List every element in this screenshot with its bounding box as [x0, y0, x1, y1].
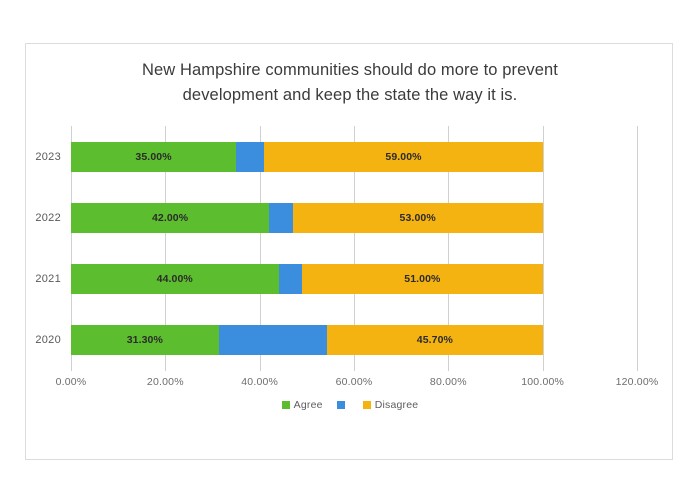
- chart-title: New Hampshire communities should do more…: [26, 58, 674, 108]
- chart-card: New Hampshire communities should do more…: [25, 43, 673, 460]
- y-axis-label-2022: 2022: [13, 203, 61, 233]
- y-axis-label-2020: 2020: [13, 325, 61, 355]
- data-label-2023-agree: 35.00%: [135, 151, 171, 163]
- chart-legend: AgreeDisagree: [26, 399, 674, 411]
- plot-area: 202335.00%59.00%202242.00%53.00%202144.0…: [71, 126, 637, 371]
- bar-segment-2023-disagree[interactable]: 59.00%: [264, 142, 542, 172]
- bar-segment-2022-agree[interactable]: 42.00%: [71, 203, 269, 233]
- chart-title-line-2: development and keep the state the way i…: [26, 83, 674, 108]
- stacked-bar-2021: 44.00%51.00%: [71, 264, 543, 294]
- x-axis-tick-60.00%: 60.00%: [336, 376, 373, 388]
- data-label-2021-agree: 44.00%: [157, 273, 193, 285]
- y-axis-label-2021: 2021: [13, 264, 61, 294]
- x-axis-tick-20.00%: 20.00%: [147, 376, 184, 388]
- x-axis-tick-100.00%: 100.00%: [521, 376, 564, 388]
- legend-swatch-agree: [282, 401, 290, 409]
- x-axis-tick-120.00%: 120.00%: [616, 376, 659, 388]
- x-axis-tick-80.00%: 80.00%: [430, 376, 467, 388]
- legend-label-disagree: Disagree: [375, 399, 419, 411]
- data-label-2020-agree: 31.30%: [127, 334, 163, 346]
- stacked-bar-2020: 31.30%45.70%: [71, 325, 543, 355]
- legend-item-agree[interactable]: Agree: [282, 399, 323, 411]
- x-axis-tick-labels: 0.00%20.00%40.00%60.00%80.00%100.00%120.…: [71, 376, 637, 394]
- data-label-2020-disagree: 45.70%: [417, 334, 453, 346]
- stacked-bar-2023: 35.00%59.00%: [71, 142, 543, 172]
- legend-label-agree: Agree: [294, 399, 323, 411]
- data-label-2022-disagree: 53.00%: [400, 212, 436, 224]
- bar-segment-2022-disagree[interactable]: 53.00%: [293, 203, 543, 233]
- bar-row-2023: 202335.00%59.00%: [71, 142, 637, 172]
- legend-item-disagree[interactable]: Disagree: [363, 399, 419, 411]
- bar-segment-2023-series-1[interactable]: [236, 142, 264, 172]
- legend-swatch-series-1: [337, 401, 345, 409]
- chart-title-line-1: New Hampshire communities should do more…: [26, 58, 674, 83]
- bar-segment-2020-agree[interactable]: 31.30%: [71, 325, 219, 355]
- data-label-2022-agree: 42.00%: [152, 212, 188, 224]
- stacked-bar-2022: 42.00%53.00%: [71, 203, 543, 233]
- bar-segment-2023-agree[interactable]: 35.00%: [71, 142, 236, 172]
- bar-row-2021: 202144.00%51.00%: [71, 264, 637, 294]
- data-label-2021-disagree: 51.00%: [404, 273, 440, 285]
- x-axis-tick-40.00%: 40.00%: [241, 376, 278, 388]
- legend-item-series-1[interactable]: [337, 401, 349, 409]
- bar-segment-2021-series-1[interactable]: [279, 264, 303, 294]
- gridline-120.00%: [637, 126, 638, 371]
- y-axis-label-2023: 2023: [13, 142, 61, 172]
- bar-row-2020: 202031.30%45.70%: [71, 325, 637, 355]
- x-axis-tick-0.00%: 0.00%: [56, 376, 87, 388]
- bar-segment-2020-disagree[interactable]: 45.70%: [327, 325, 543, 355]
- bar-segment-2021-agree[interactable]: 44.00%: [71, 264, 279, 294]
- data-label-2023-disagree: 59.00%: [385, 151, 421, 163]
- bar-row-2022: 202242.00%53.00%: [71, 203, 637, 233]
- bar-segment-2022-series-1[interactable]: [269, 203, 293, 233]
- bar-segment-2021-disagree[interactable]: 51.00%: [302, 264, 543, 294]
- bar-segment-2020-series-1[interactable]: [219, 325, 327, 355]
- legend-swatch-disagree: [363, 401, 371, 409]
